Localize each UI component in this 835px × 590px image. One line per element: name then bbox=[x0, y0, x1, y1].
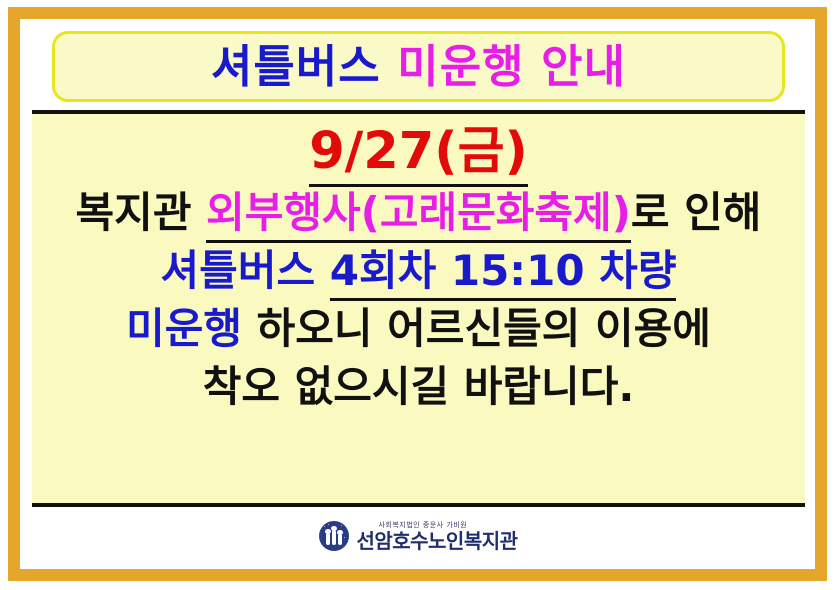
notice-line-date: 9/27(금) bbox=[309, 126, 528, 177]
notice-poster: 셔틀버스 미운행 안내 9/27(금) 복지관 외부행사(고래문화축제)로 인해… bbox=[0, 0, 835, 590]
poster-footer: 사회복지법인 중운사 가비원 선암호수노인복지관 bbox=[32, 507, 805, 565]
title-space bbox=[381, 40, 398, 93]
organization-logo: 사회복지법인 중운사 가비원 선암호수노인복지관 bbox=[319, 521, 517, 551]
bus-trip-time: 4회차 15:10 차량 bbox=[330, 246, 677, 301]
closing-text: 착오 없으시길 바랍니다. bbox=[203, 362, 635, 411]
notice-body-panel: 9/27(금) 복지관 외부행사(고래문화축제)로 인해 셔틀버스 4회차 15… bbox=[32, 114, 805, 503]
reason-prefix: 복지관 bbox=[76, 188, 207, 237]
bus-label: 셔틀버스 bbox=[161, 246, 330, 295]
notice-line-reason: 복지관 외부행사(고래문화축제)로 인해 bbox=[76, 192, 762, 234]
organization-logo-text: 사회복지법인 중운사 가비원 선암호수노인복지관 bbox=[356, 522, 517, 551]
notice-line-closing: 착오 없으시길 바랍니다. bbox=[203, 366, 635, 408]
no-service-rest: 하오니 어르신들의 이용에 bbox=[242, 304, 711, 353]
date-text: 9/27(금) bbox=[309, 122, 528, 187]
title-part-shuttle-bus: 셔틀버스 bbox=[211, 40, 381, 93]
no-service-keyword: 미운행 bbox=[126, 304, 242, 353]
organization-tagline: 사회복지법인 중운사 가비원 bbox=[378, 522, 517, 529]
reason-suffix: 로 인해 bbox=[631, 188, 762, 237]
organization-name: 선암호수노인복지관 bbox=[356, 531, 517, 551]
title-plate: 셔틀버스 미운행 안내 bbox=[52, 31, 785, 102]
title-part-no-service-notice: 미운행 안내 bbox=[397, 40, 626, 93]
reason-event-name: 외부행사(고래문화축제) bbox=[206, 188, 631, 243]
page-title: 셔틀버스 미운행 안내 bbox=[211, 44, 626, 89]
notice-line-no-service: 미운행 하오니 어르신들의 이용에 bbox=[126, 308, 711, 350]
people-circle-logo-icon bbox=[319, 521, 349, 551]
notice-line-bus-detail: 셔틀버스 4회차 15:10 차량 bbox=[161, 250, 677, 292]
